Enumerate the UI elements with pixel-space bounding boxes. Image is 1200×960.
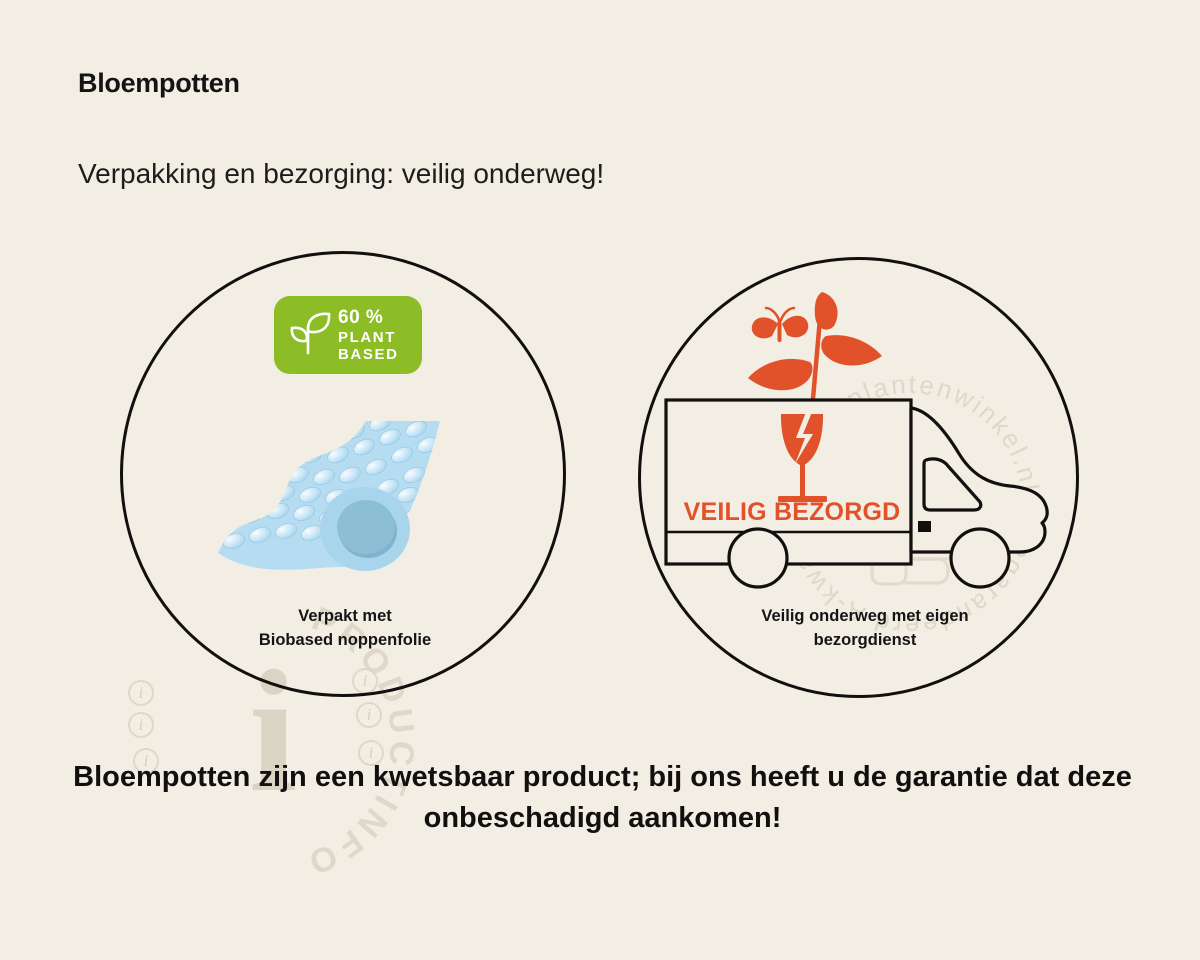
plant-based-line2: BASED (338, 346, 399, 363)
plant-based-percent: 60 % (338, 307, 399, 329)
delivery-caption-line1: Veilig onderweg met eigen (715, 604, 1015, 628)
sprout-leaf-icon (284, 307, 336, 364)
info-watermark-icon: i (356, 702, 382, 728)
packaging-caption-line1: Verpakt met (195, 604, 495, 628)
truck-side-label: VEILIG BEZORGD (672, 498, 912, 527)
truck-rear-wheel (729, 529, 787, 587)
bubble-wrap-roll-end (320, 487, 410, 571)
packaging-caption-line2: Biobased noppenfolie (195, 628, 495, 652)
page-title: Bloempotten (78, 68, 240, 99)
info-watermark-icon: i (128, 712, 154, 738)
plant-based-badge-text: 60 % PLANT BASED (338, 307, 399, 364)
truck-door-handle (918, 521, 931, 532)
delivery-truck-illustration (650, 280, 1070, 590)
plant-based-badge: 60 % PLANT BASED (274, 296, 422, 374)
plant-based-line1: PLANT (338, 329, 396, 346)
bottom-statement: Bloempotten zijn een kwetsbaar product; … (60, 757, 1145, 839)
delivery-caption-line2: bezorgdienst (715, 628, 1015, 652)
delivery-caption: Veilig onderweg met eigen bezorgdienst (715, 604, 1015, 653)
info-watermark-icon: i (128, 680, 154, 706)
product-info-graphic: PRODUCTINFO i tuinplantenwinkel.nl · geg… (0, 0, 1200, 960)
plant-butterfly-logo (748, 292, 882, 400)
bubble-wrap-illustration (190, 385, 450, 585)
truck-front-wheel (951, 529, 1009, 587)
page-subtitle: Verpakking en bezorging: veilig onderweg… (78, 158, 604, 190)
packaging-caption: Verpakt met Biobased noppenfolie (195, 604, 495, 653)
